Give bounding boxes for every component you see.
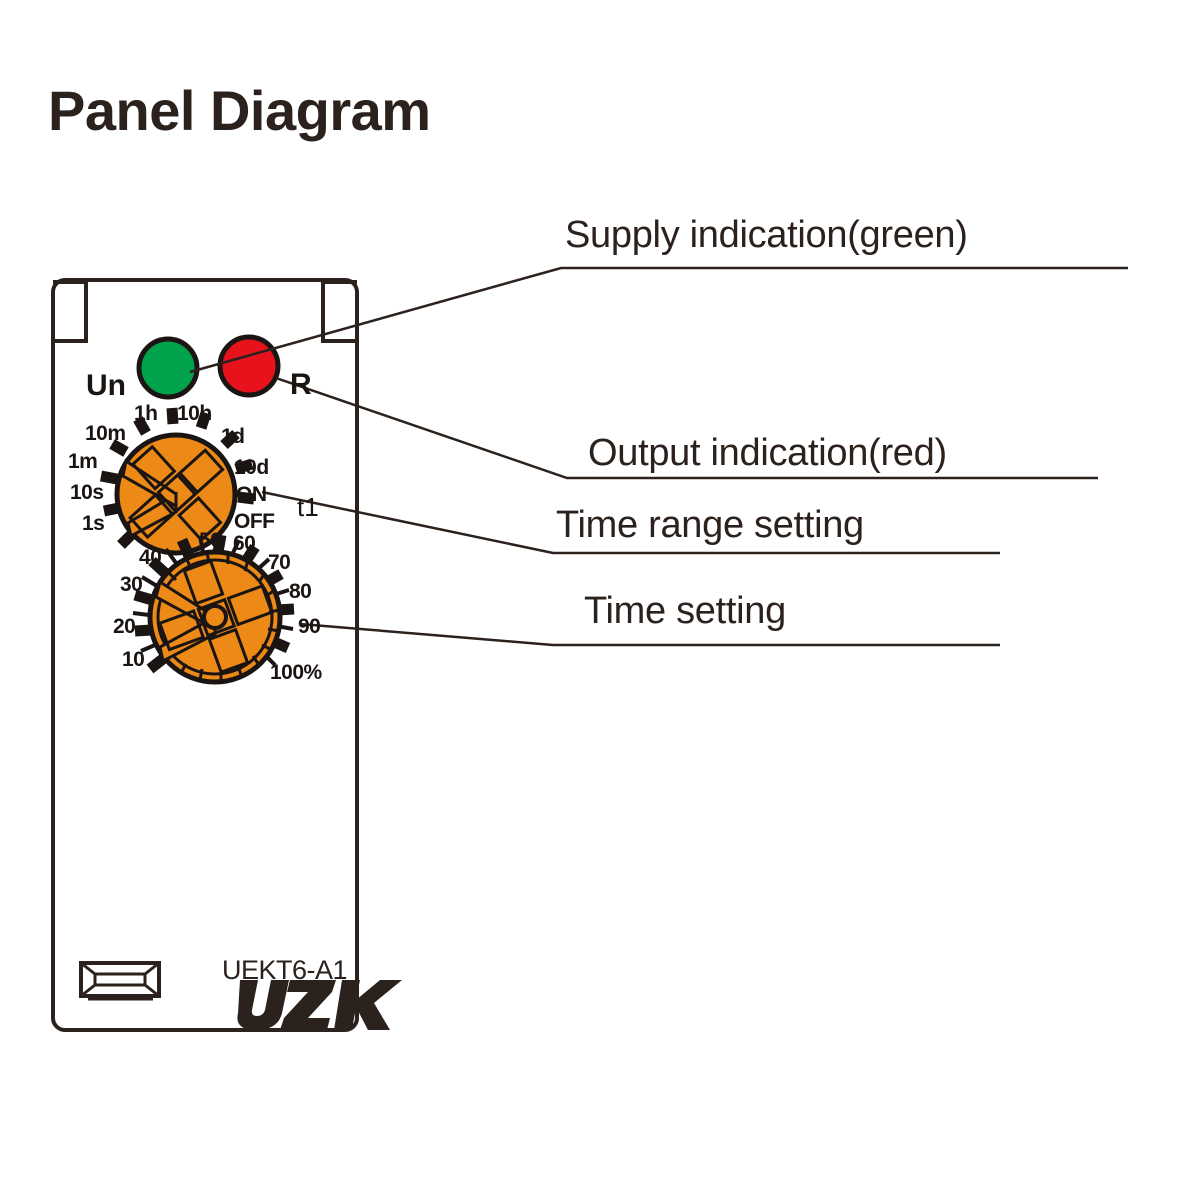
time-setting-tick-20: 20 xyxy=(113,615,135,639)
time-setting-hub xyxy=(204,606,226,628)
callout-output-indication: Output indication(red) xyxy=(588,432,947,475)
callout-time-setting: Time setting xyxy=(584,590,786,633)
terminal-slot xyxy=(81,963,159,999)
time-setting-tick-100: 100% xyxy=(270,661,322,685)
callout-time-range-setting: Time range setting xyxy=(556,504,864,547)
time-range-tick-1d: 1d xyxy=(221,425,245,449)
callout-supply-indication: Supply indication(green) xyxy=(565,214,968,257)
output-led-label: R xyxy=(290,368,312,402)
time-setting-tick-90: 90 xyxy=(298,615,320,639)
time-setting-tick-10: 10 xyxy=(122,648,144,672)
model-number: UEKT6-A1 xyxy=(222,955,347,986)
time-setting-tick-80: 80 xyxy=(289,580,311,604)
supply-led-label: Un xyxy=(86,369,126,403)
time-range-tick-1h: 1h xyxy=(134,402,158,426)
time-setting-tick-60: 60 xyxy=(233,532,255,556)
time-range-tick-1s: 1s xyxy=(82,512,104,536)
time-setting-tick-40: 40 xyxy=(139,546,161,570)
time-setting-tick-70: 70 xyxy=(268,551,290,575)
time-range-tick-10s: 10s xyxy=(70,481,104,505)
time-range-tick-off: OFF xyxy=(234,510,275,534)
time-range-tick-on: ON xyxy=(236,483,267,507)
time-range-tick-10d: 10d xyxy=(234,456,269,480)
time-range-tick-10m: 10m xyxy=(85,422,126,446)
t1-marker-label: t1 xyxy=(297,492,319,523)
time-range-tick-10h: 10h xyxy=(177,402,212,426)
supply-led[interactable] xyxy=(139,339,197,397)
time-setting-tick-30: 30 xyxy=(120,573,142,597)
time-range-tick-1m: 1m xyxy=(68,450,97,474)
panel-diagram-page: Panel Diagram xyxy=(0,0,1200,1200)
time-setting-tick-50: 50 xyxy=(199,529,221,553)
output-led[interactable] xyxy=(220,337,278,395)
